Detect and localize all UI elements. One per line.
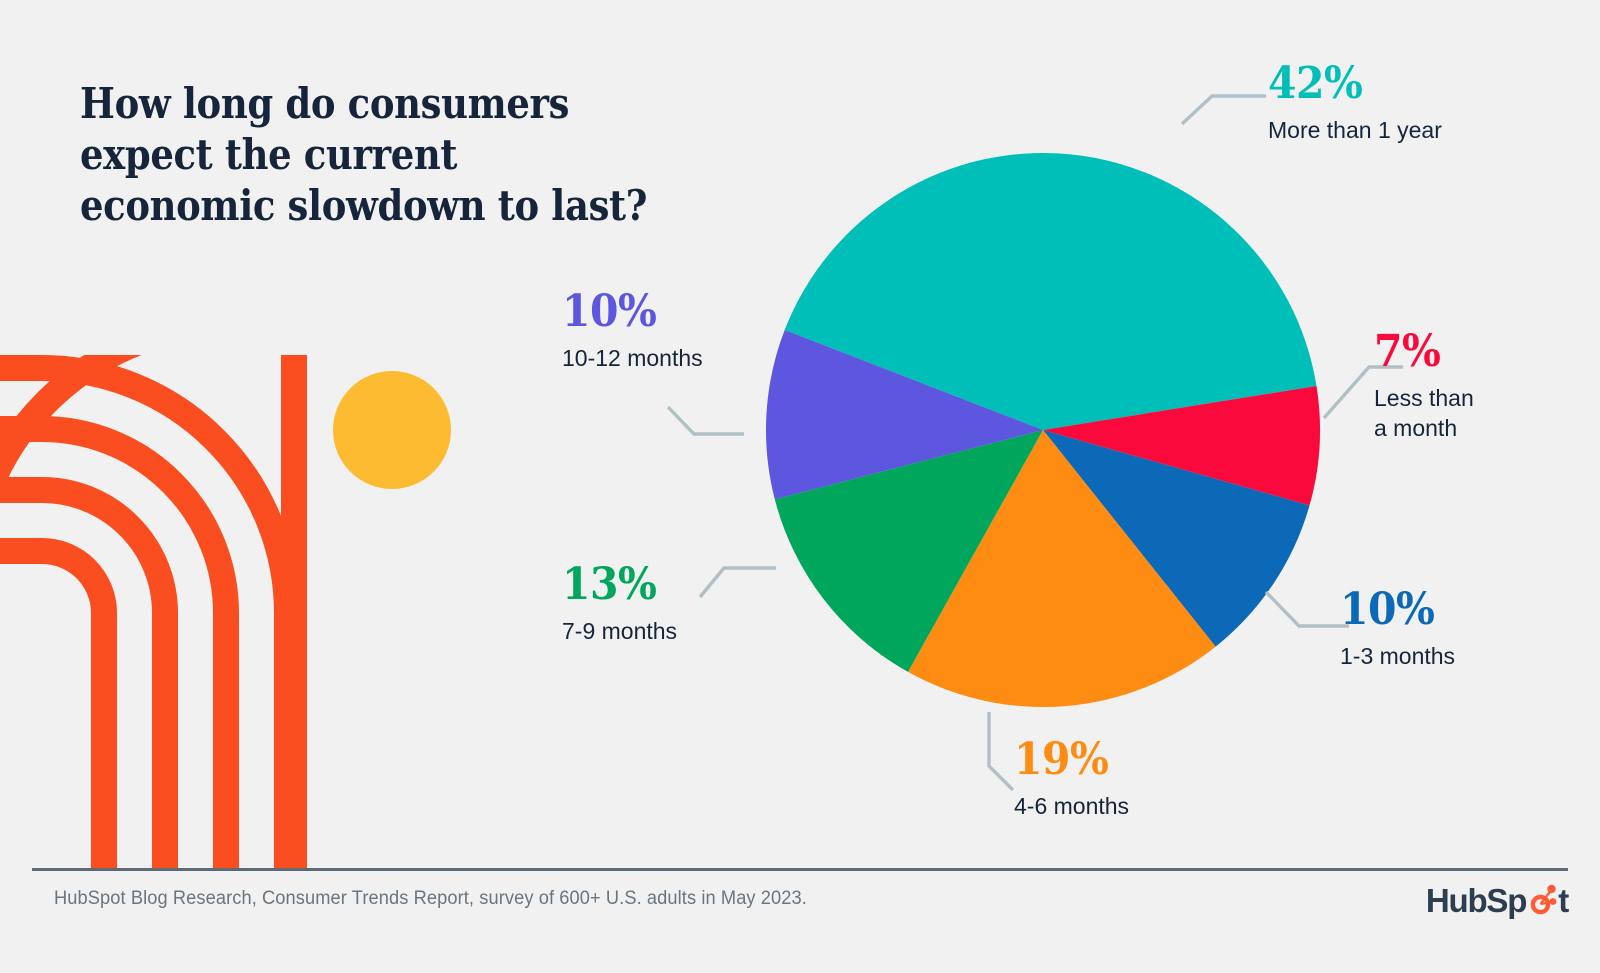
callout-caption: 1-3 months (1340, 642, 1455, 672)
pie-slice-4-6-months (908, 430, 1216, 707)
callout-percent: 42% (1268, 62, 1430, 106)
leader-line-4-6-months (989, 712, 1013, 790)
callout-caption: More than 1 year (1268, 116, 1442, 146)
callout-less-than-a-month: 7% Less than a month (1374, 330, 1474, 444)
callout-percent: 10% (562, 290, 693, 334)
leader-lines (668, 96, 1403, 790)
callout-1-3-months: 10% 1-3 months (1340, 588, 1455, 672)
callout-4-6-months: 19% 4-6 months (1014, 738, 1129, 822)
pie-slice-less-than-a-month (1043, 386, 1320, 505)
decorative-rainbow-arcs (0, 355, 330, 870)
logo-text-part1: HubSp (1426, 884, 1526, 917)
pie-slice-10-12-months (766, 330, 1043, 499)
footer-divider (32, 868, 1568, 871)
pie-slice-more-than-1-year (785, 153, 1317, 430)
hubspot-sprocket-icon (1526, 883, 1558, 916)
logo-text-part2: t (1558, 884, 1568, 917)
callout-10-12-months: 10% 10-12 months (562, 290, 703, 374)
callout-more-than-1-year: 42% More than 1 year (1268, 62, 1442, 146)
callout-percent: 10% (1340, 588, 1447, 632)
leader-line-10-12-months (668, 407, 744, 434)
pie-slices (766, 153, 1320, 707)
infographic-canvas: How long do consumers expect the current… (0, 0, 1600, 973)
callout-7-9-months: 13% 7-9 months (562, 563, 677, 647)
callout-percent: 7% (1374, 330, 1467, 374)
source-note: HubSpot Blog Research, Consumer Trends R… (54, 888, 807, 910)
callout-caption: 7-9 months (562, 617, 677, 647)
decorative-yellow-circle (333, 371, 451, 489)
leader-line-1-3-months (1266, 592, 1349, 626)
callout-caption: 4-6 months (1014, 792, 1129, 822)
leader-line-7-9-months (700, 568, 776, 597)
pie-slice-7-9-months (775, 430, 1043, 672)
callout-percent: 13% (562, 563, 669, 607)
hubspot-logo: HubSp t (1426, 880, 1568, 920)
callout-caption: Less than a month (1374, 384, 1474, 444)
callout-caption: 10-12 months (562, 344, 703, 374)
leader-line-more-than-1-year (1182, 96, 1266, 124)
page-title: How long do consumers expect the current… (80, 78, 652, 232)
callout-percent: 19% (1014, 738, 1121, 782)
pie-slice-1-3-months (1043, 430, 1310, 647)
